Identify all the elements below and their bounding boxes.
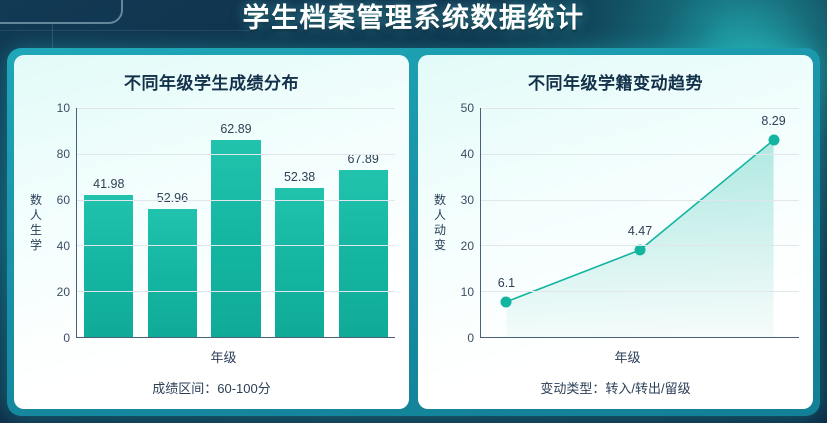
y-tick-label: 40 xyxy=(461,147,474,161)
bar-column[interactable]: 67.89 xyxy=(339,108,388,337)
y-tick-label: 0 xyxy=(467,331,474,345)
dashboard-root: 学生档案管理系统数据统计 不同年级学生成绩分布 数人生学 10806040200… xyxy=(0,0,827,423)
bar-chart-caption: 成绩区间：60-100分 xyxy=(14,378,409,397)
gridline xyxy=(77,108,395,109)
line-value-label: 8.29 xyxy=(761,114,785,128)
bar-chart-y-ticks: 10806040200 xyxy=(44,108,74,338)
y-tick-label: 0 xyxy=(63,331,70,345)
bar-value-label: 52.38 xyxy=(270,170,329,184)
y-tick-label: 10 xyxy=(461,285,474,299)
bar-column[interactable]: 52.96 xyxy=(148,108,197,337)
line-value-label: 4.47 xyxy=(628,224,652,238)
line-series-svg xyxy=(481,108,799,337)
bar[interactable] xyxy=(211,140,260,337)
bar[interactable] xyxy=(275,188,324,337)
gridline xyxy=(481,108,799,109)
bar-chart-x-axis-label: 年级 xyxy=(38,347,409,366)
charts-board: 不同年级学生成绩分布 数人生学 10806040200 41.9852.9662… xyxy=(7,48,820,416)
y-tick-label: 20 xyxy=(57,285,70,299)
y-tick-label: 10 xyxy=(57,101,70,115)
bar-column[interactable]: 41.98 xyxy=(84,108,133,337)
panel-bar-chart: 不同年级学生成绩分布 数人生学 10806040200 41.9852.9662… xyxy=(14,55,409,409)
bar-chart-title: 不同年级学生成绩分布 xyxy=(14,69,409,94)
y-tick-label: 60 xyxy=(57,193,70,207)
bar-value-label: 62.89 xyxy=(206,122,265,136)
line-chart-plot-area: 6.14.478.29 xyxy=(480,108,799,338)
gridline xyxy=(481,154,799,155)
y-tick-label: 20 xyxy=(461,239,474,253)
page-title: 学生档案管理系统数据统计 xyxy=(0,0,827,36)
gridline xyxy=(77,200,395,201)
gridline xyxy=(77,245,395,246)
panel-line-chart: 不同年级学籍变动趋势 数人动变 50403020100 6.14.478.29 … xyxy=(418,55,813,409)
gridline xyxy=(77,291,395,292)
y-tick-label: 50 xyxy=(461,101,474,115)
line-chart-plot: 数人动变 50403020100 6.14.478.29 xyxy=(432,108,799,338)
line-chart-y-ticks: 50403020100 xyxy=(448,108,478,338)
y-tick-label: 80 xyxy=(57,147,70,161)
bar-column[interactable]: 52.38 xyxy=(275,108,324,337)
gridline xyxy=(481,291,799,292)
gridline xyxy=(77,154,395,155)
gridline xyxy=(481,200,799,201)
bar[interactable] xyxy=(339,170,388,337)
line-chart-title: 不同年级学籍变动趋势 xyxy=(418,69,813,94)
gridline xyxy=(481,245,799,246)
line-data-point[interactable] xyxy=(768,135,779,146)
bar-column[interactable]: 62.89 xyxy=(211,108,260,337)
line-chart-caption: 变动类型：转入/转出/留级 xyxy=(418,378,813,397)
line-area-fill xyxy=(506,140,773,337)
bar[interactable] xyxy=(84,195,133,337)
bar-value-label: 41.98 xyxy=(79,177,138,191)
bar-chart-y-axis-label: 数人生学 xyxy=(28,193,44,253)
line-chart-y-axis-label: 数人动变 xyxy=(432,193,448,253)
line-value-label: 6.1 xyxy=(498,276,515,290)
bar-chart-plot: 数人生学 10806040200 41.9852.9662.8952.3867.… xyxy=(28,108,395,338)
y-tick-label: 40 xyxy=(57,239,70,253)
bar-value-label: 52.96 xyxy=(143,191,202,205)
y-tick-label: 30 xyxy=(461,193,474,207)
line-chart-x-axis-label: 年级 xyxy=(442,347,813,366)
bar[interactable] xyxy=(148,209,197,337)
bar-chart-plot-area: 41.9852.9662.8952.3867.89 xyxy=(76,108,395,338)
bar-series: 41.9852.9662.8952.3867.89 xyxy=(77,108,395,337)
line-data-point[interactable] xyxy=(501,296,512,307)
